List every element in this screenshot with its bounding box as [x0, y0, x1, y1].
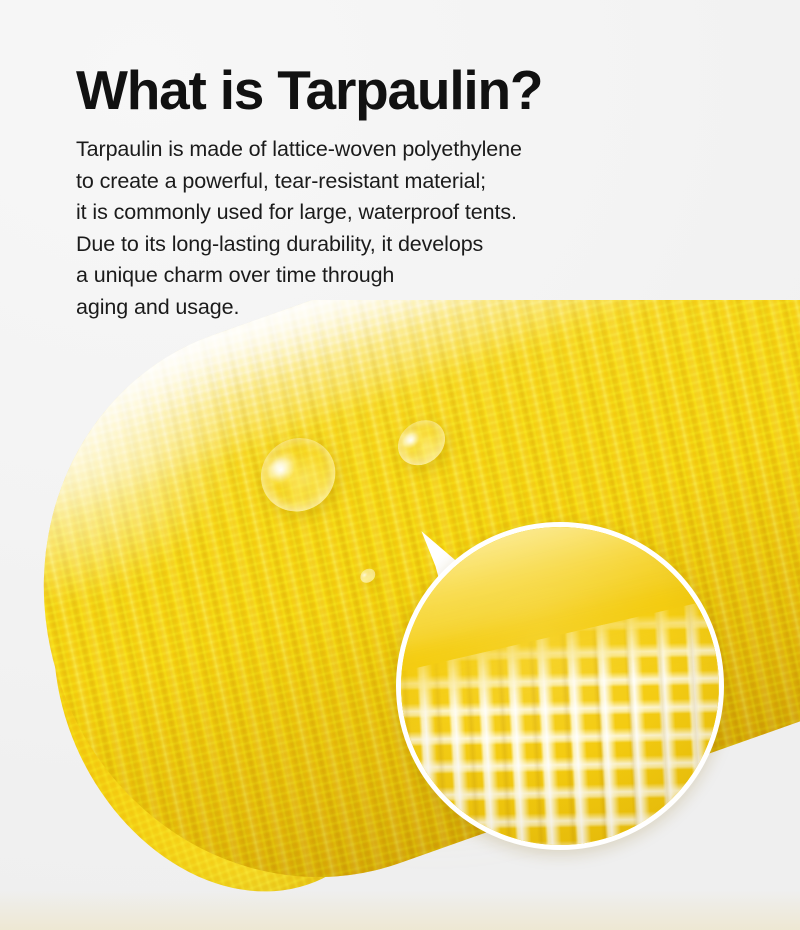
description-line: Tarpaulin is made of lattice-woven polye…: [76, 134, 716, 166]
text-block: What is Tarpaulin? Tarpaulin is made of …: [76, 58, 716, 323]
description-line: to create a powerful, tear-resistant mat…: [76, 166, 716, 198]
description-line: it is commonly used for large, waterproo…: [76, 197, 716, 229]
description-line: aging and usage.: [76, 292, 716, 324]
page-title: What is Tarpaulin?: [76, 58, 716, 122]
description-line: Due to its long-lasting durability, it d…: [76, 229, 716, 261]
description-line: a unique charm over time through: [76, 260, 716, 292]
magnifier-content: [401, 527, 719, 845]
infographic-page: What is Tarpaulin? Tarpaulin is made of …: [0, 0, 800, 930]
lattice-weave-closeup: [396, 522, 724, 850]
tarpaulin-photo: [0, 300, 800, 930]
magnifier-circle: [396, 522, 724, 850]
description-paragraph: Tarpaulin is made of lattice-woven polye…: [76, 122, 716, 323]
